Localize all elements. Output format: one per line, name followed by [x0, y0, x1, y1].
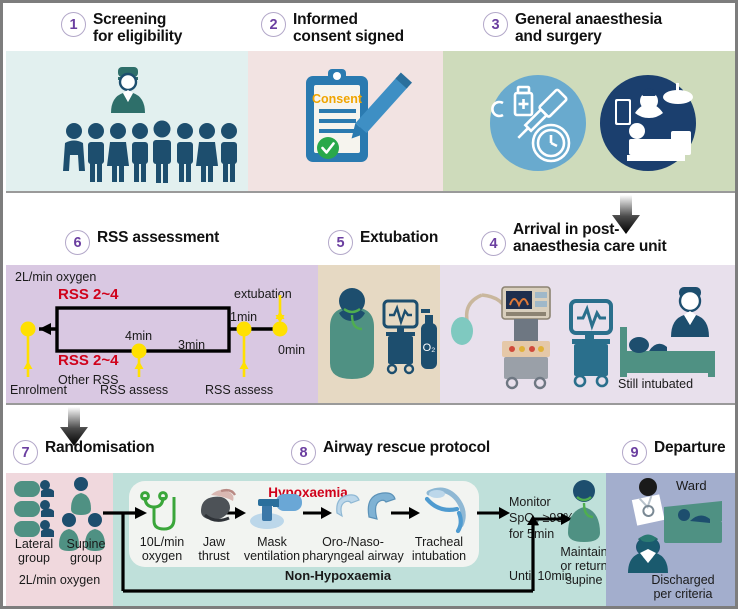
step-number-8: 8 — [291, 440, 316, 465]
anaesthesia-surgery-icon — [443, 51, 738, 191]
maintain-supine-icon — [568, 480, 600, 542]
consent-clipboard-icon: Consent — [248, 51, 443, 191]
step-title-2: Informed consent signed — [293, 11, 404, 46]
step-header-2: 2 Informed consent signed — [261, 11, 404, 46]
step-title-1: Screening for eligibility — [93, 11, 182, 46]
svg-text:O₂: O₂ — [423, 342, 436, 354]
step-title-2-line2: consent signed — [293, 28, 404, 45]
consent-clipboard-text: Consent — [312, 92, 363, 106]
panel-pacu-illustration: Still intubated — [440, 265, 738, 403]
step-number-7: 7 — [13, 440, 38, 465]
panel-randomisation: Lateral group Supine group 2L/min oxygen — [6, 473, 113, 609]
step-title-9: Departure — [654, 439, 725, 456]
lateral-group-label-line2: group — [8, 551, 60, 565]
airway-rescue-graphic — [113, 473, 606, 609]
pacu-caption: Still intubated — [618, 377, 693, 391]
step-title-6: RSS assessment — [97, 229, 219, 246]
step-header-5: 5 Extubation — [328, 229, 438, 255]
step-title-3: General anaesthesia and surgery — [515, 11, 662, 46]
step-title-3-line1: General anaesthesia — [515, 11, 662, 28]
step-title-1-line2: for eligibility — [93, 28, 182, 45]
discharged-label-line2: per criteria — [628, 587, 738, 601]
tracheal-tube-icon — [427, 490, 463, 531]
step-number-1: 1 — [61, 12, 86, 37]
supine-group-label-line1: Supine — [60, 537, 112, 551]
step-title-4-line1: Arrival in post- — [513, 221, 666, 238]
panel-consent-illustration: Consent — [248, 51, 443, 191]
row-divider-2 — [6, 403, 738, 405]
panel-rss-timeline: 2L/min oxygen RSS 2~4 RSS 2~4 Other RSS … — [6, 265, 318, 403]
step-header-9: 9 Departure — [622, 439, 725, 465]
extubation-icon: O₂ — [318, 265, 440, 403]
step-title-1-line1: Screening — [93, 11, 182, 28]
step-title-5: Extubation — [360, 229, 438, 246]
randomisation-oxygen-note: 2L/min oxygen — [6, 573, 113, 587]
step-number-3: 3 — [483, 12, 508, 37]
step-number-5: 5 — [328, 230, 353, 255]
panel-screening-illustration — [6, 51, 248, 191]
row-divider-1 — [6, 191, 738, 193]
supine-group-label-line2: group — [60, 551, 112, 565]
panel-departure: Ward Discharged per criteria — [606, 473, 738, 609]
step-number-4: 4 — [481, 231, 506, 256]
jaw-thrust-icon — [201, 490, 235, 520]
step-header-7: 7 Randomisation — [13, 439, 154, 465]
step-header-3: 3 General anaesthesia and surgery — [483, 11, 662, 46]
face-mask-icon — [250, 494, 302, 529]
step-title-2-line1: Informed — [293, 11, 404, 28]
lateral-group-label-line1: Lateral — [8, 537, 60, 551]
panel-airway-rescue-protocol: Hypoxaemia 10L/min oxygen Jaw thrust Mas… — [113, 473, 606, 609]
step-title-3-line2: and surgery — [515, 28, 662, 45]
rss-timeline-graphic — [6, 265, 318, 403]
step-header-1: 1 Screening for eligibility — [61, 11, 182, 46]
discharged-label-line1: Discharged — [628, 573, 738, 587]
panel-extubation-illustration: O₂ — [318, 265, 440, 403]
figure-root: 1 Screening for eligibility 2 Informed c… — [0, 0, 738, 609]
step-number-2: 2 — [261, 12, 286, 37]
step-number-9: 9 — [622, 440, 647, 465]
step-title-4-line2: anaesthesia care unit — [513, 238, 666, 255]
step-number-6: 6 — [65, 230, 90, 255]
nasal-cannula-icon — [142, 493, 174, 529]
step-title-7: Randomisation — [45, 439, 154, 456]
step-header-8: 8 Airway rescue protocol — [291, 439, 490, 465]
pacu-icon — [440, 265, 738, 403]
step-header-4: 4 Arrival in post- anaesthesia care unit — [481, 221, 666, 256]
step-header-6: 6 RSS assessment — [65, 229, 219, 255]
panel-anaesthesia-surgery-illustration — [443, 51, 738, 191]
screening-crowd-icon — [6, 51, 248, 191]
step-title-8: Airway rescue protocol — [323, 439, 490, 456]
ward-label: Ward — [676, 479, 707, 494]
step-title-4: Arrival in post- anaesthesia care unit — [513, 221, 666, 256]
airway-tube-icon — [337, 493, 395, 519]
